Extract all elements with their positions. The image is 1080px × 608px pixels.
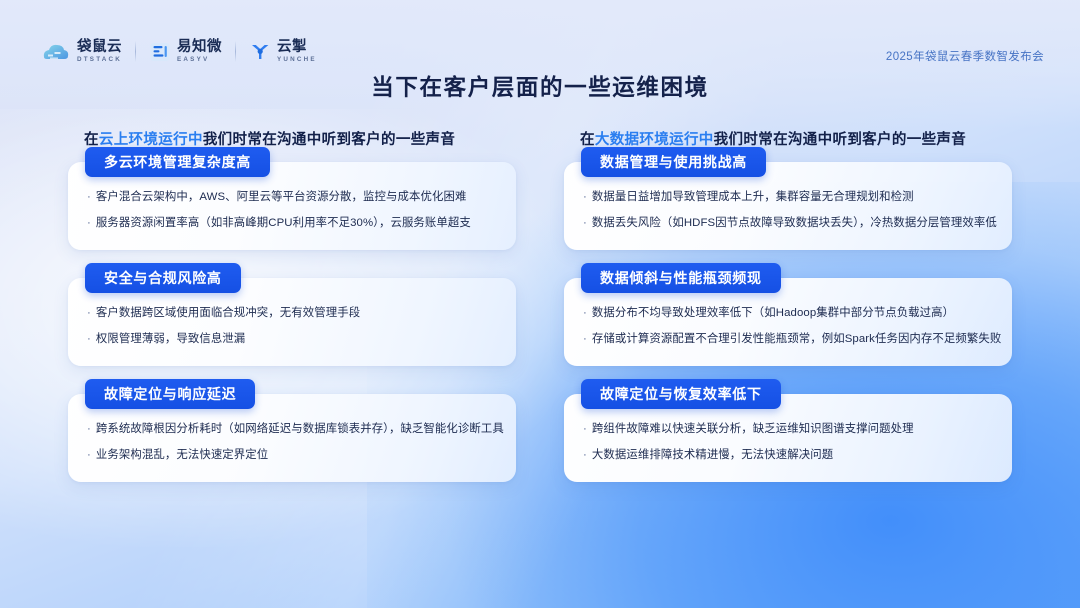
bullet-marker: · [583,306,587,320]
card-cloud-1-bullets: · 客户混合云架构中，AWS、阿里云等平台资源分散，监控与成本优化困难 · 服务… [87,190,500,231]
card-bigdata-1[interactable]: 数据管理与使用挑战高 · 数据量日益增加导致管理成本上升，集群容量无合理规划和检… [564,162,1012,250]
bullet-item: · 客户数据跨区域使用面临合规冲突，无有效管理手段 [87,306,500,320]
logo-easyv: 易知微 EASYV [149,40,222,63]
logo-dtstack-en: DTSTACK [77,57,122,63]
bullet-marker: · [87,422,91,436]
card-bigdata-1-bullets: · 数据量日益增加导致管理成本上升，集群容量无合理规划和检测 · 数据丢失风险（… [583,190,996,231]
bullet-text: 大数据运维排障技术精进慢，无法快速解决问题 [592,448,833,462]
bullet-marker: · [87,306,91,320]
logo-bar: 袋鼠云 DTSTACK 易知微 EASYV [41,40,317,63]
card-cloud-2-bullets: · 客户数据跨区域使用面临合规冲突，无有效管理手段 · 权限管理薄弱，导致信息泄… [87,306,500,347]
bullet-text: 权限管理薄弱，导致信息泄漏 [96,332,245,346]
dtstack-cloud-logo-icon [41,41,71,63]
column-cloud-heading-suffix: 我们时常在沟通中听到客户的一些声音 [203,132,455,148]
page-title: 当下在客户层面的一些运维困境 [0,70,1080,102]
card-bigdata-3[interactable]: 故障定位与恢复效率低下 · 跨组件故障难以快速关联分析，缺乏运维知识图谱支撑问题… [564,394,1012,482]
card-cloud-3-bullets: · 跨系统故障根因分析耗时（如网络延迟与数据库锁表并存），缺乏智能化诊断工具 ·… [87,422,500,463]
card-bigdata-2[interactable]: 数据倾斜与性能瓶颈频现 · 数据分布不均导致处理效率低下（如Hadoop集群中部… [564,278,1012,366]
logo-easyv-text: 易知微 EASYV [177,40,222,63]
bullet-text: 数据量日益增加导致管理成本上升，集群容量无合理规划和检测 [592,190,914,204]
bullet-item: · 权限管理薄弱，导致信息泄漏 [87,332,500,346]
column-bigdata: 在大数据环境运行中我们时常在沟通中听到客户的一些声音 数据管理与使用挑战高 · … [564,128,1012,510]
bullet-item: · 存储或计算资源配置不合理引发性能瓶颈常，例如Spark任务因内存不足频繁失败 [583,332,996,346]
bullet-item: · 客户混合云架构中，AWS、阿里云等平台资源分散，监控与成本优化困难 [87,190,500,204]
logo-yunche-en: YUNCHE [277,57,317,63]
easyv-logo-icon [149,41,171,63]
card-bigdata-1-badge: 数据管理与使用挑战高 [581,147,766,177]
column-cloud-heading-highlight: 云上环境运行中 [99,132,203,148]
logo-easyv-cn: 易知微 [177,40,222,55]
bullet-marker: · [87,448,91,462]
column-cloud-heading-prefix: 在 [84,132,99,148]
bullet-marker: · [583,190,587,204]
bullet-text: 存储或计算资源配置不合理引发性能瓶颈常，例如Spark任务因内存不足频繁失败 [592,332,1001,346]
card-cloud-2-badge: 安全与合规风险高 [85,263,241,293]
column-bigdata-heading: 在大数据环境运行中我们时常在沟通中听到客户的一些声音 [580,128,1012,149]
bullet-item: · 服务器资源闲置率高（如非高峰期CPU利用率不足30%），云服务账单超支 [87,216,500,230]
logo-dtstack-text: 袋鼠云 DTSTACK [77,40,122,63]
column-cloud: 在云上环境运行中我们时常在沟通中听到客户的一些声音 多云环境管理复杂度高 · 客… [68,128,516,510]
logo-easyv-en: EASYV [177,57,222,63]
column-cloud-heading: 在云上环境运行中我们时常在沟通中听到客户的一些声音 [84,128,516,149]
bullet-text: 业务架构混乱，无法快速定界定位 [96,448,268,462]
column-bigdata-heading-prefix: 在 [580,132,595,148]
card-cloud-1-badge: 多云环境管理复杂度高 [85,147,270,177]
bullet-text: 数据分布不均导致处理效率低下（如Hadoop集群中部分节点负载过高） [592,306,954,320]
logo-yunche-text: 云掣 YUNCHE [277,40,317,63]
card-bigdata-3-badge: 故障定位与恢复效率低下 [581,379,781,409]
logo-divider-2 [235,41,236,62]
bullet-text: 跨组件故障难以快速关联分析，缺乏运维知识图谱支撑问题处理 [592,422,914,436]
logo-dtstack-cn: 袋鼠云 [77,40,122,55]
bullet-marker: · [583,332,587,346]
card-bigdata-2-badge: 数据倾斜与性能瓶颈频现 [581,263,781,293]
bullet-marker: · [583,422,587,436]
bullet-item: · 大数据运维排障技术精进慢，无法快速解决问题 [583,448,996,462]
bullet-marker: · [87,216,91,230]
bullet-text: 客户混合云架构中，AWS、阿里云等平台资源分散，监控与成本优化困难 [96,190,467,204]
card-bigdata-2-bullets: · 数据分布不均导致处理效率低下（如Hadoop集群中部分节点负载过高） · 存… [583,306,996,347]
bullet-text: 客户数据跨区域使用面临合规冲突，无有效管理手段 [96,306,360,320]
event-tag: 2025年袋鼠云春季数智发布会 [886,48,1044,64]
bullet-item: · 数据丢失风险（如HDFS因节点故障导致数据块丢失），冷热数据分层管理效率低 [583,216,996,230]
bullet-marker: · [87,332,91,346]
bullet-marker: · [583,448,587,462]
bullet-item: · 数据分布不均导致处理效率低下（如Hadoop集群中部分节点负载过高） [583,306,996,320]
bullet-item: · 跨组件故障难以快速关联分析，缺乏运维知识图谱支撑问题处理 [583,422,996,436]
column-bigdata-heading-highlight: 大数据环境运行中 [595,132,714,148]
logo-yunche: 云掣 YUNCHE [249,40,317,63]
bullet-marker: · [87,190,91,204]
bullet-text: 服务器资源闲置率高（如非高峰期CPU利用率不足30%），云服务账单超支 [96,216,471,230]
card-cloud-2[interactable]: 安全与合规风险高 · 客户数据跨区域使用面临合规冲突，无有效管理手段 · 权限管… [68,278,516,366]
card-cloud-3-badge: 故障定位与响应延迟 [85,379,255,409]
bullet-item: · 业务架构混乱，无法快速定界定位 [87,448,500,462]
slide-canvas: 袋鼠云 DTSTACK 易知微 EASYV [0,0,1080,608]
column-bigdata-heading-suffix: 我们时常在沟通中听到客户的一些声音 [714,132,966,148]
card-cloud-1[interactable]: 多云环境管理复杂度高 · 客户混合云架构中，AWS、阿里云等平台资源分散，监控与… [68,162,516,250]
bullet-item: · 跨系统故障根因分析耗时（如网络延迟与数据库锁表并存），缺乏智能化诊断工具 [87,422,500,436]
logo-yunche-cn: 云掣 [277,40,317,55]
bullet-text: 跨系统故障根因分析耗时（如网络延迟与数据库锁表并存），缺乏智能化诊断工具 [96,422,504,436]
bullet-marker: · [583,216,587,230]
yunche-logo-icon [249,41,271,63]
bullet-text: 数据丢失风险（如HDFS因节点故障导致数据块丢失），冷热数据分层管理效率低 [592,216,997,230]
bullet-item: · 数据量日益增加导致管理成本上升，集群容量无合理规划和检测 [583,190,996,204]
slide-header: 袋鼠云 DTSTACK 易知微 EASYV [0,0,1080,112]
logo-dtstack: 袋鼠云 DTSTACK [41,40,122,63]
card-cloud-3[interactable]: 故障定位与响应延迟 · 跨系统故障根因分析耗时（如网络延迟与数据库锁表并存），缺… [68,394,516,482]
card-bigdata-3-bullets: · 跨组件故障难以快速关联分析，缺乏运维知识图谱支撑问题处理 · 大数据运维排障… [583,422,996,463]
logo-divider-1 [135,41,136,62]
